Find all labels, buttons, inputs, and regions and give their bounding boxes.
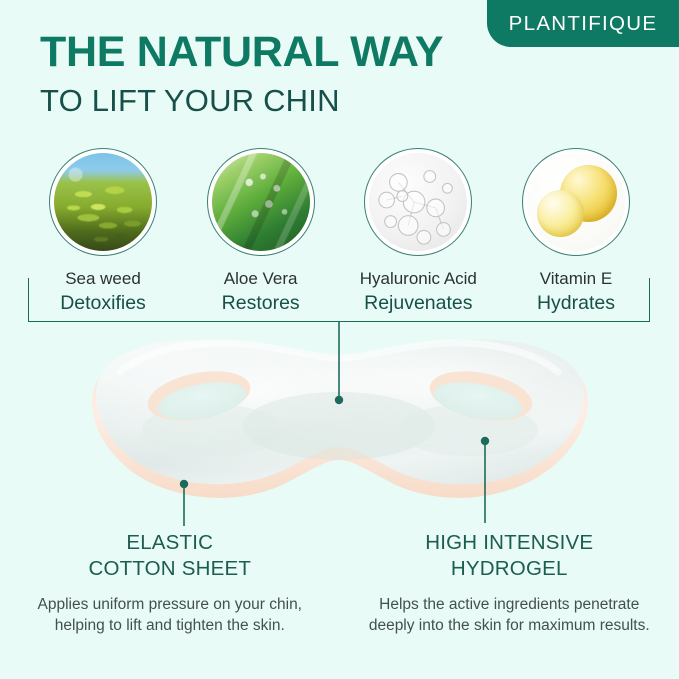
feature-blocks: ELASTIC COTTON SHEET Applies uniform pre… bbox=[0, 530, 679, 637]
seaweed-photo bbox=[54, 153, 152, 251]
page-title: THE NATURAL WAY bbox=[40, 30, 443, 75]
ingredient-image-aloe-vera bbox=[207, 148, 315, 256]
brand-name: PLANTIFIQUE bbox=[509, 12, 658, 36]
aloe-vera-photo bbox=[212, 153, 310, 251]
feature-title-line1: ELASTIC bbox=[28, 530, 312, 556]
ingredient-image-seaweed bbox=[49, 148, 157, 256]
feature-title-line1: HIGH INTENSIVE bbox=[368, 530, 652, 556]
ingredient-image-hyaluronic-acid bbox=[364, 148, 472, 256]
feature-cotton-sheet: ELASTIC COTTON SHEET Applies uniform pre… bbox=[0, 530, 340, 637]
feature-title-line2: HYDROGEL bbox=[368, 556, 652, 582]
feature-title-line2: COTTON SHEET bbox=[28, 556, 312, 582]
feature-description: Applies uniform pressure on your chin, h… bbox=[28, 595, 312, 636]
molecule-bubbles-icon bbox=[369, 153, 467, 251]
brand-badge: PLANTIFIQUE bbox=[487, 0, 679, 47]
oil-droplet-small-icon bbox=[537, 190, 584, 237]
chin-mask-illustration bbox=[0, 330, 679, 530]
feature-hydrogel: HIGH INTENSIVE HYDROGEL Helps the active… bbox=[340, 530, 679, 637]
page-subtitle: TO LIFT YOUR CHIN bbox=[40, 84, 443, 118]
hyaluronic-molecule-photo bbox=[369, 153, 467, 251]
vitamin-e-droplets-photo bbox=[527, 153, 625, 251]
feature-title: ELASTIC COTTON SHEET bbox=[28, 530, 312, 582]
ingredients-bracket-divider bbox=[28, 278, 650, 322]
feature-description: Helps the active ingredients penetrate d… bbox=[368, 595, 652, 636]
heading-block: THE NATURAL WAY TO LIFT YOUR CHIN bbox=[40, 30, 443, 118]
feature-title: HIGH INTENSIVE HYDROGEL bbox=[368, 530, 652, 582]
ingredient-image-vitamin-e bbox=[522, 148, 630, 256]
product-illustration bbox=[0, 330, 679, 530]
